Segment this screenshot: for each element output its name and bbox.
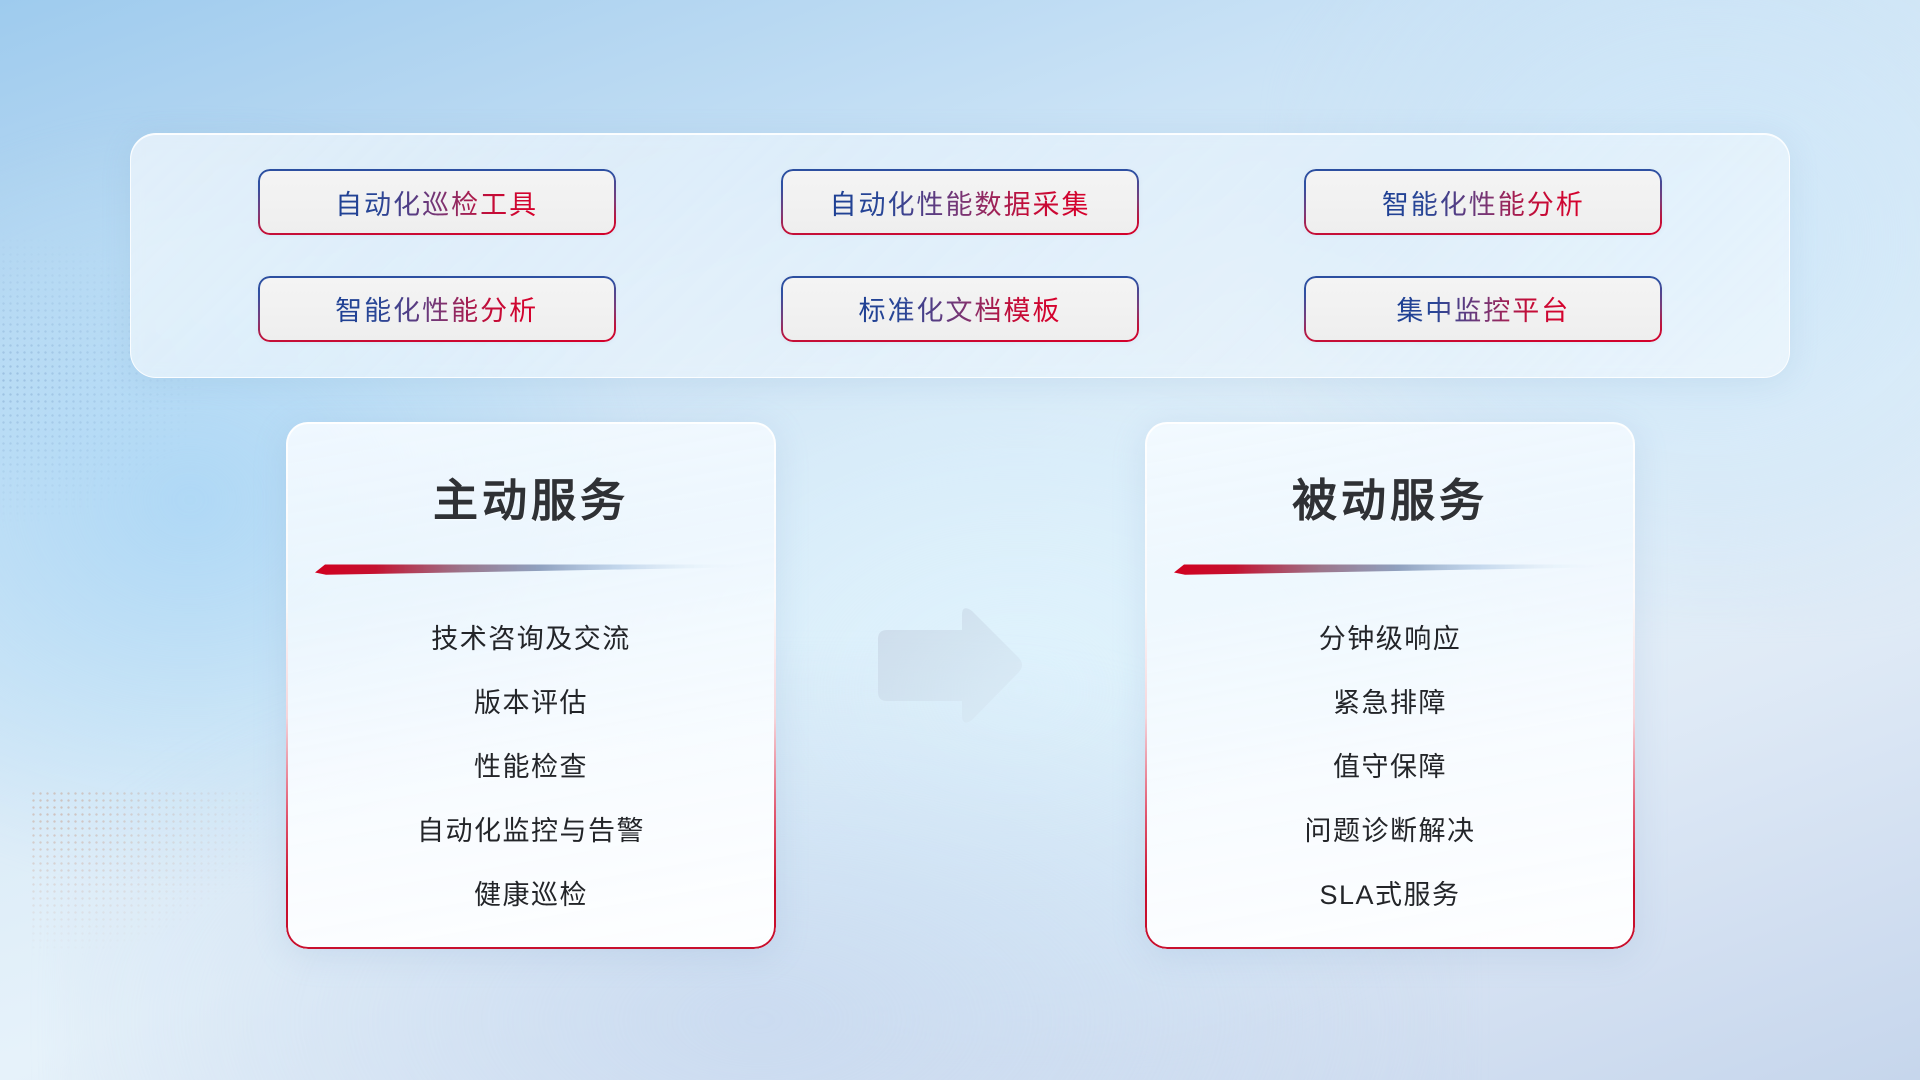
capability-tag-label: 智能化性能分析 [1382,183,1585,222]
capabilities-panel: 自动化巡检工具 自动化性能数据采集 智能化性能分析 智能化性能分析 标准化文档模… [130,133,1790,378]
card-divider [1174,562,1606,575]
capability-tag-label: 标准化文档模板 [858,289,1061,328]
service-item: 分钟级响应 [1145,611,1635,668]
capability-tag-label: 自动化性能数据采集 [829,183,1090,222]
service-item: SLA式服务 [1145,867,1635,924]
capability-tag-label: 智能化性能分析 [335,289,538,328]
service-item: 问题诊断解决 [1145,803,1635,860]
capability-tag-intelligent-performance-analysis-1[interactable]: 智能化性能分析 [1304,169,1662,235]
service-item: 值守保障 [1145,739,1635,796]
capability-tag-automated-performance-data-collection[interactable]: 自动化性能数据采集 [781,169,1139,235]
capability-tag-intelligent-performance-analysis-2[interactable]: 智能化性能分析 [258,276,616,342]
card-divider [315,562,747,575]
service-item: 版本评估 [286,675,776,732]
service-card-active: 主动服务 技术咨询及交流 版本评估 性能检查 自动化监控与告警 健康巡检 [286,422,776,949]
service-item: 技术咨询及交流 [286,611,776,668]
service-item-list: 分钟级响应 紧急排障 值守保障 问题诊断解决 SLA式服务 [1145,611,1635,924]
capability-tag-centralized-monitoring-platform[interactable]: 集中监控平台 [1304,276,1662,342]
service-item: 紧急排障 [1145,675,1635,732]
background-dot-pattern-right [30,790,290,970]
capability-tag-label: 集中监控平台 [1396,289,1570,328]
service-item: 健康巡检 [286,867,776,924]
service-card-title: 主动服务 [286,464,776,529]
capability-tag-label: 自动化巡检工具 [335,183,538,222]
service-item-list: 技术咨询及交流 版本评估 性能检查 自动化监控与告警 健康巡检 [286,611,776,924]
capability-tag-standardized-document-template[interactable]: 标准化文档模板 [781,276,1139,342]
service-item: 性能检查 [286,739,776,796]
flow-arrow-right-icon [868,601,1028,731]
service-item: 自动化监控与告警 [286,803,776,860]
service-card-title: 被动服务 [1145,464,1635,529]
capability-tag-automated-inspection-tool[interactable]: 自动化巡检工具 [258,169,616,235]
service-card-passive: 被动服务 分钟级响应 紧急排障 值守保障 问题诊断解决 SLA式服务 [1145,422,1635,949]
